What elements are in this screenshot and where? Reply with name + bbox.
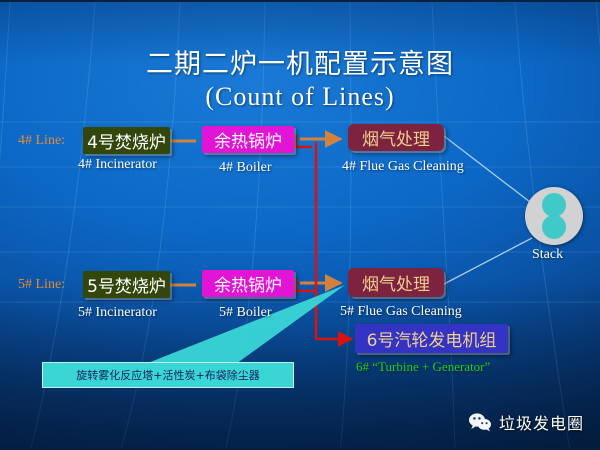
caption-boiler-4: 4# Boiler — [219, 160, 272, 176]
caption-boiler-5: 5# Boiler — [219, 305, 272, 321]
callout-pointer — [120, 285, 345, 374]
node-boiler-4[interactable]: 余热锅炉 — [202, 126, 294, 153]
stack-outlet-bottom-icon — [542, 215, 566, 239]
node-incinerator-5[interactable]: 5号焚烧炉 — [83, 271, 170, 298]
line-label-5: 5# Line: — [18, 277, 65, 293]
caption-incinerator-5: 5# Incinerator — [78, 305, 157, 321]
caption-flue-gas-4: 4# Flue Gas Cleaning — [342, 159, 464, 175]
stack-outlet-top-icon — [542, 193, 566, 217]
node-flue-gas-4[interactable]: 烟气处理 — [348, 124, 444, 151]
caption-turbine-generator-6: 6# “Turbine + Generator” — [356, 359, 490, 375]
wechat-icon — [468, 412, 492, 432]
node-boiler-5[interactable]: 余热锅炉 — [202, 270, 294, 297]
stack-label: Stack — [532, 247, 563, 263]
callout-scrubber-description[interactable]: 旋转雾化反应塔+活性炭+布袋除尘器 — [42, 362, 294, 388]
node-flue-gas-5[interactable]: 烟气处理 — [348, 268, 444, 297]
watermark: 垃圾发电圈 — [468, 410, 584, 434]
watermark-text: 垃圾发电圈 — [499, 410, 584, 434]
slide-canvas: 二期二炉一机配置示意图 (Count of Lines) — [0, 0, 600, 450]
node-turbine-generator-6[interactable]: 6号汽轮发电机组 — [355, 324, 508, 353]
stack-node[interactable] — [525, 187, 583, 245]
node-incinerator-4[interactable]: 4号焚烧炉 — [83, 127, 170, 154]
line-label-4: 4# Line: — [18, 133, 65, 149]
caption-incinerator-4: 4# Incinerator — [78, 157, 157, 173]
caption-flue-gas-5: 5# Flue Gas Cleaning — [340, 304, 462, 320]
